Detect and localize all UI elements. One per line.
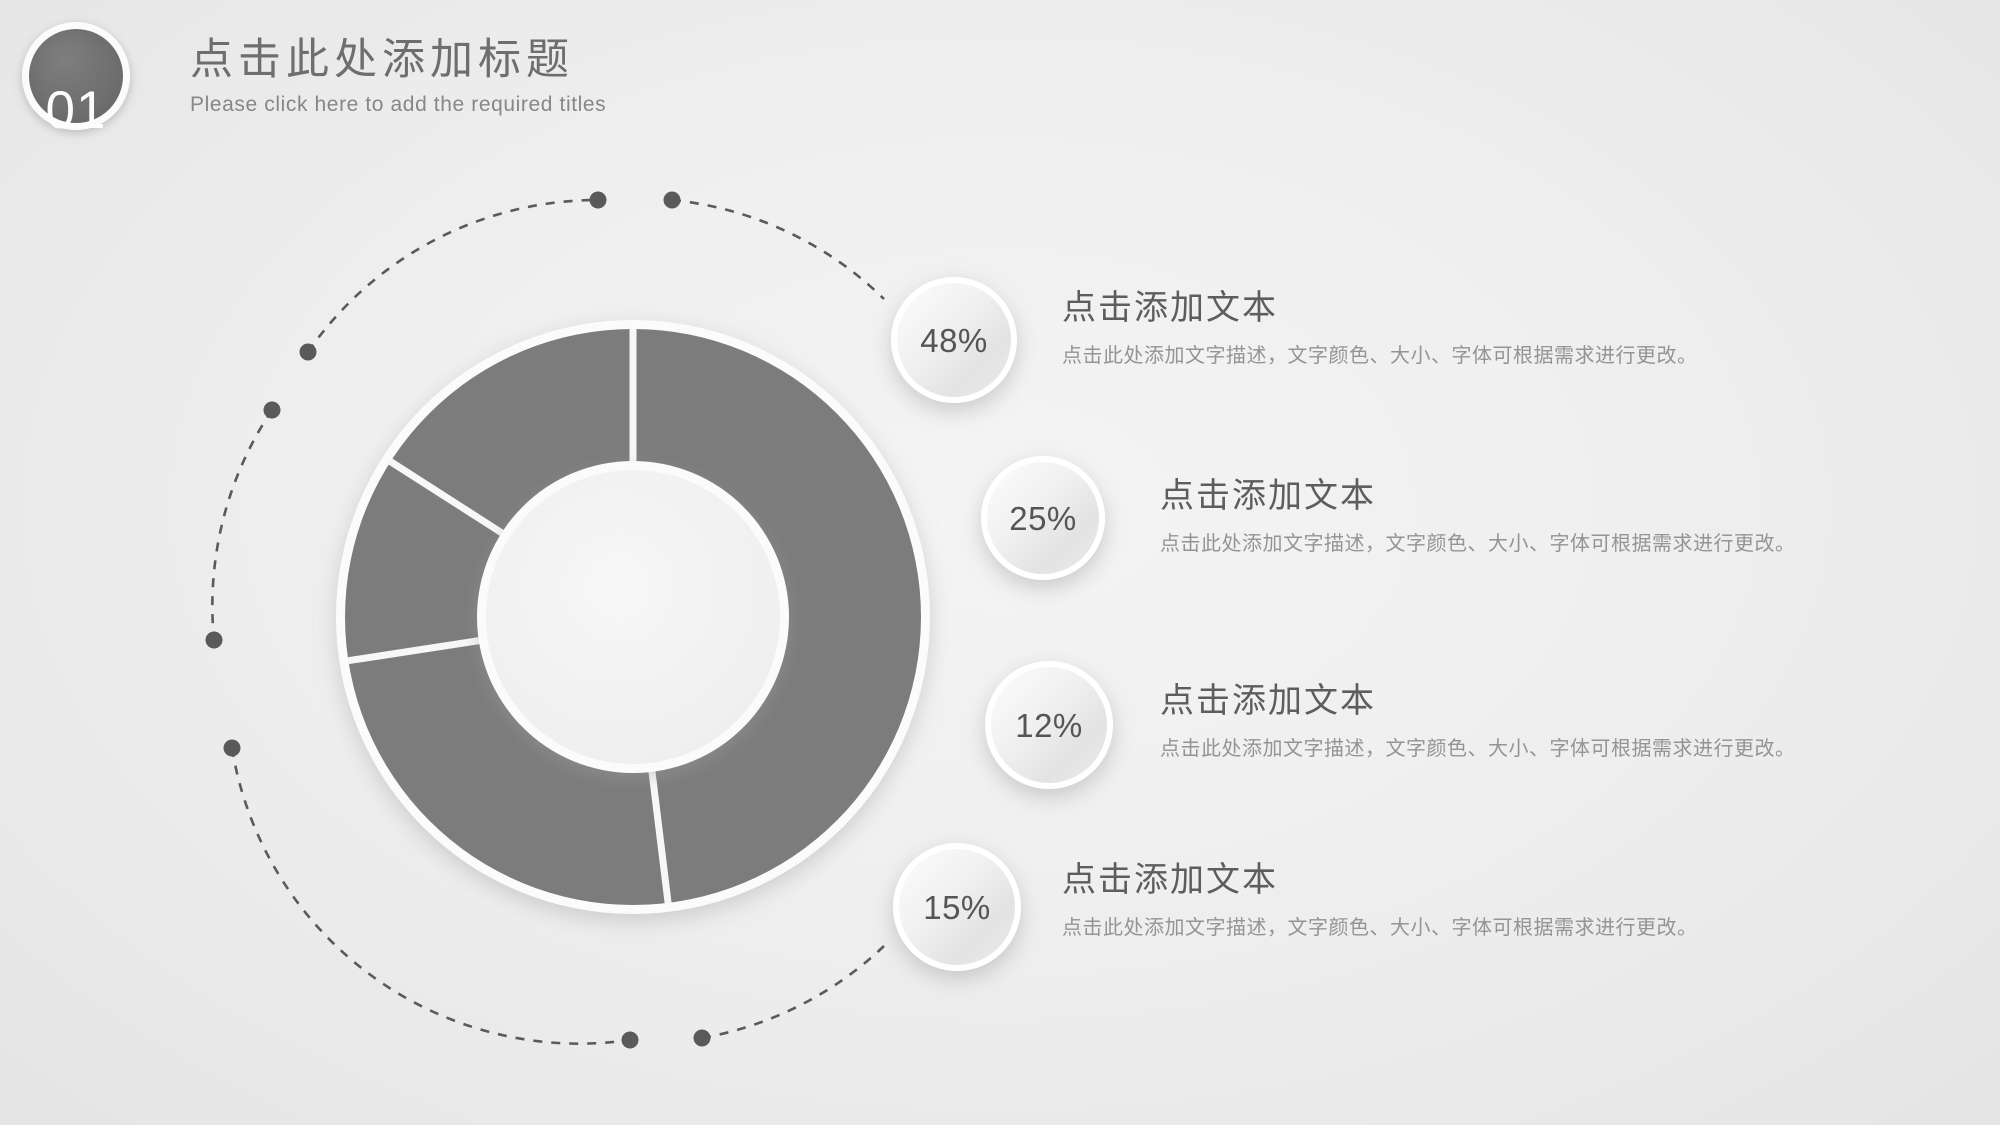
percent-bubble-3[interactable]: 12% (985, 661, 1113, 789)
arc-dot-8 (694, 1030, 711, 1047)
donut-hole-ring (477, 461, 789, 773)
text-block-1[interactable]: 点击添加文本 点击此处添加文字描述，文字颜色、大小、字体可根据需求进行更改。 (1062, 290, 1698, 369)
arc-dot-2 (590, 192, 607, 209)
text-block-title-4: 点击添加文本 (1062, 862, 1698, 899)
header-text-group: 点击此处添加标题 Please click here to add the re… (190, 38, 606, 117)
page-title: 点击此处添加标题 (190, 38, 606, 83)
donut-outer-halo (336, 320, 930, 914)
page-subtitle: Please click here to add the required ti… (190, 93, 606, 117)
text-block-desc-4: 点击此处添加文字描述，文字颜色、大小、字体可根据需求进行更改。 (1062, 915, 1698, 941)
text-block-3[interactable]: 点击添加文本 点击此处添加文字描述，文字颜色、大小、字体可根据需求进行更改。 (1160, 683, 1796, 762)
arc-dot-1 (300, 344, 317, 361)
header-number-badge: 01 (22, 22, 130, 130)
text-block-4[interactable]: 点击添加文本 点击此处添加文字描述，文字颜色、大小、字体可根据需求进行更改。 (1062, 862, 1698, 941)
divider-270-0deg (390, 462, 633, 618)
arc-dot-7 (622, 1032, 639, 1049)
divider-226-8deg (348, 617, 633, 661)
dashed-arc-bottom-right (702, 946, 884, 1038)
decorative-arc-dots (206, 192, 711, 1049)
text-block-desc-3: 点击此处添加文字描述，文字颜色、大小、字体可根据需求进行更改。 (1160, 736, 1796, 762)
text-block-title-3: 点击添加文本 (1160, 683, 1796, 720)
percent-bubble-2[interactable]: 25% (981, 456, 1105, 580)
text-block-desc-2: 点击此处添加文字描述，文字颜色、大小、字体可根据需求进行更改。 (1160, 531, 1796, 557)
arc-dot-6 (224, 740, 241, 757)
donut-hole (486, 470, 780, 764)
header-badge-number-label: 01 (29, 84, 123, 137)
dashed-arc-left-upper (212, 410, 272, 640)
text-block-desc-1: 点击此处添加文字描述，文字颜色、大小、字体可根据需求进行更改。 (1062, 343, 1698, 369)
slide-header: 01 点击此处添加标题 Please click here to add the… (18, 14, 778, 139)
arc-dot-4 (264, 402, 281, 419)
arc-dot-5 (206, 632, 223, 649)
text-block-title-2: 点击添加文本 (1160, 478, 1796, 515)
donut-outer-disc (345, 329, 921, 905)
percent-value-2: 25% (1009, 502, 1077, 535)
percent-value-3: 12% (1015, 709, 1083, 742)
donut-ring-group (336, 320, 930, 914)
dashed-arc-left-lower (232, 748, 630, 1044)
percent-bubble-4[interactable]: 15% (893, 843, 1021, 971)
percent-bubble-1[interactable]: 48% (891, 277, 1017, 403)
percent-value-4: 15% (923, 891, 991, 924)
donut-segment-dividers (348, 329, 668, 903)
dashed-arc-top-left (308, 200, 598, 352)
donut-center-hole-group (477, 461, 789, 773)
text-block-title-1: 点击添加文本 (1062, 290, 1698, 327)
text-block-2[interactable]: 点击添加文本 点击此处添加文字描述，文字颜色、大小、字体可根据需求进行更改。 (1160, 478, 1796, 557)
arc-dot-3 (664, 192, 681, 209)
percent-value-1: 48% (920, 324, 988, 357)
decorative-dashed-arcs (212, 200, 884, 1044)
divider-172-8deg (633, 617, 668, 903)
dashed-arc-top-right (672, 200, 884, 299)
